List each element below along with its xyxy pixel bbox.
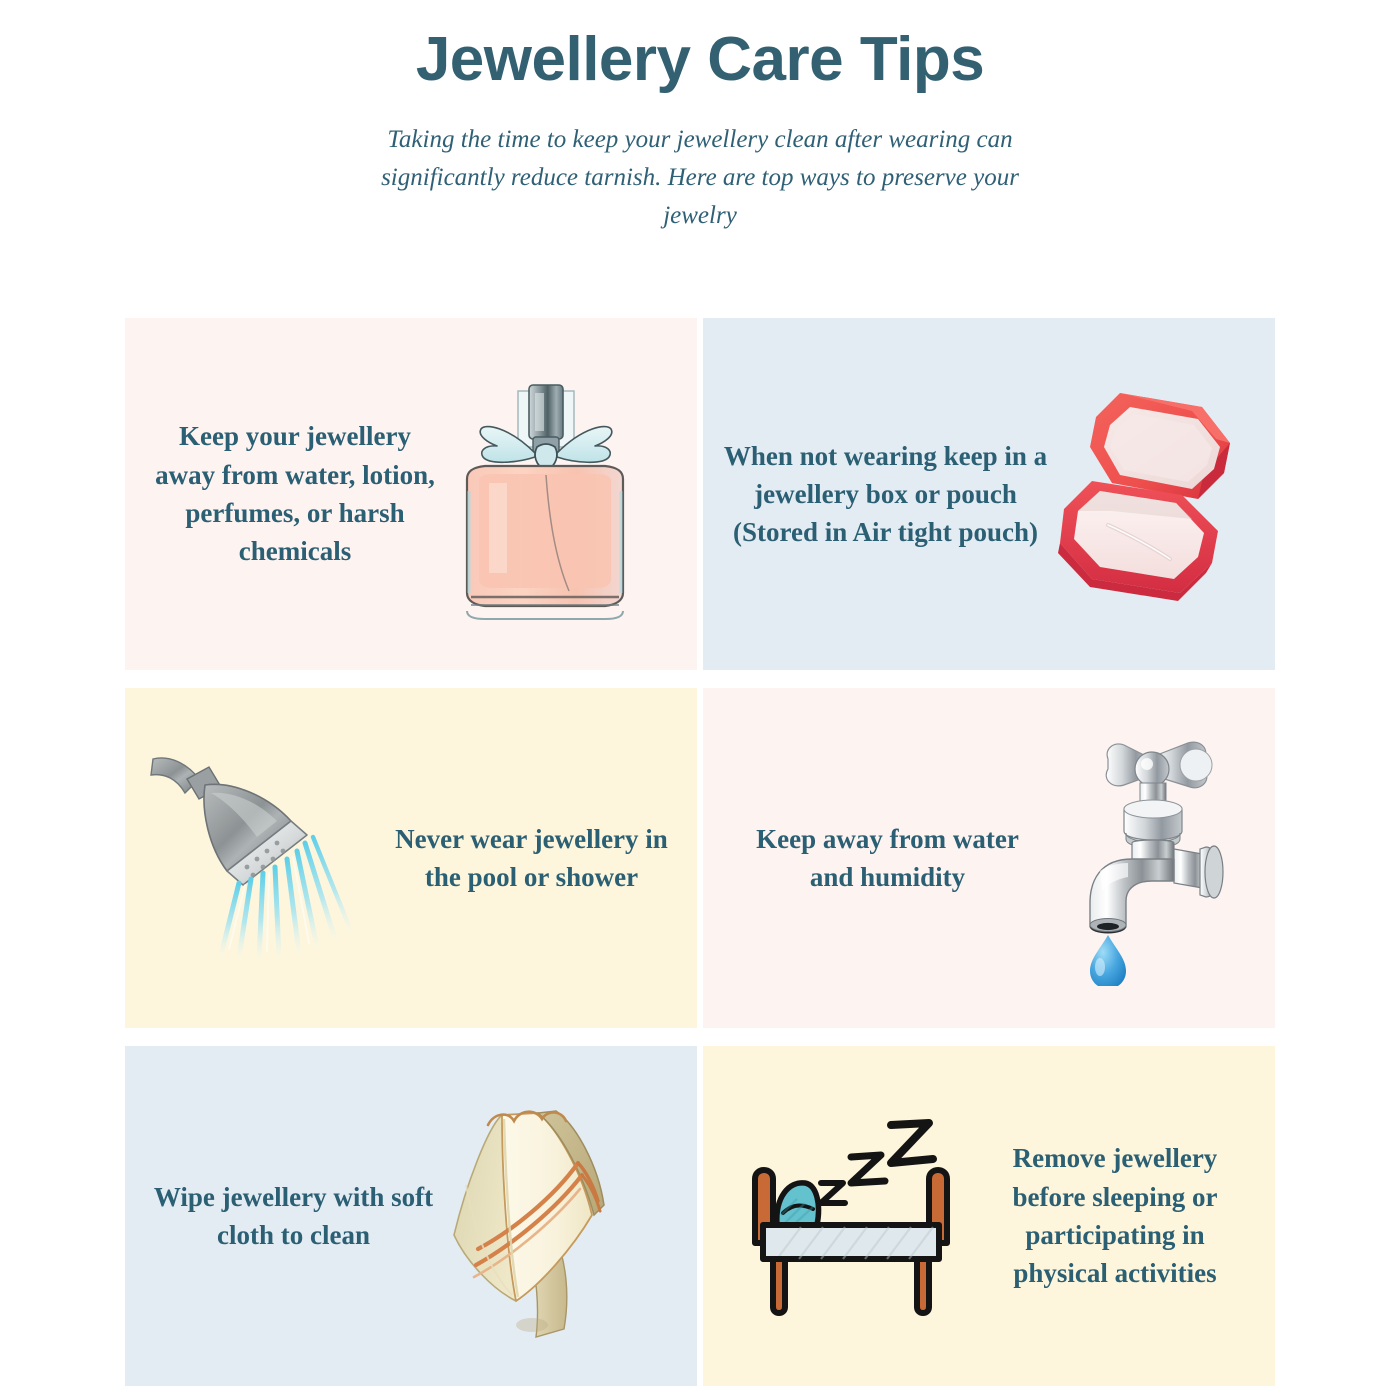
tip-card-jewellery-box: When not wearing keep in a jewellery box… bbox=[703, 318, 1275, 670]
tip-card-cloth: Wipe jewellery with soft cloth to clean bbox=[125, 1046, 697, 1386]
tip-card-shower: Never wear jewellery in the pool or show… bbox=[125, 688, 697, 1028]
tip-card-perfume: Keep your jewellery away from water, lot… bbox=[125, 318, 697, 670]
faucet-icon bbox=[1048, 731, 1263, 986]
shower-head-icon bbox=[147, 743, 382, 973]
tip-card-text: Keep away from water and humidity bbox=[703, 820, 1048, 897]
ring-box-icon bbox=[1052, 377, 1267, 612]
perfume-bottle-icon bbox=[445, 367, 645, 622]
infographic-page: Jewellery Care Tips Taking the time to k… bbox=[0, 0, 1400, 1400]
tip-card-sleep: Remove jewellery before sleeping or part… bbox=[703, 1046, 1275, 1386]
tip-card-text: Wipe jewellery with soft cloth to clean bbox=[125, 1178, 436, 1255]
tip-card-text: When not wearing keep in a jewellery box… bbox=[703, 437, 1052, 552]
bed-sleep-icon bbox=[733, 1109, 983, 1324]
header: Jewellery Care Tips Taking the time to k… bbox=[0, 0, 1400, 235]
tip-card-text: Remove jewellery before sleeping or part… bbox=[983, 1139, 1275, 1292]
page-subtitle: Taking the time to keep your jewellery c… bbox=[380, 121, 1020, 235]
tip-card-text: Never wear jewellery in the pool or show… bbox=[382, 820, 697, 897]
polishing-cloth-icon bbox=[436, 1089, 651, 1344]
tip-card-faucet: Keep away from water and humidity bbox=[703, 688, 1275, 1028]
tips-grid: Keep your jewellery away from water, lot… bbox=[125, 318, 1275, 1386]
tip-card-text: Keep your jewellery away from water, lot… bbox=[125, 417, 445, 570]
page-title: Jewellery Care Tips bbox=[0, 24, 1400, 95]
